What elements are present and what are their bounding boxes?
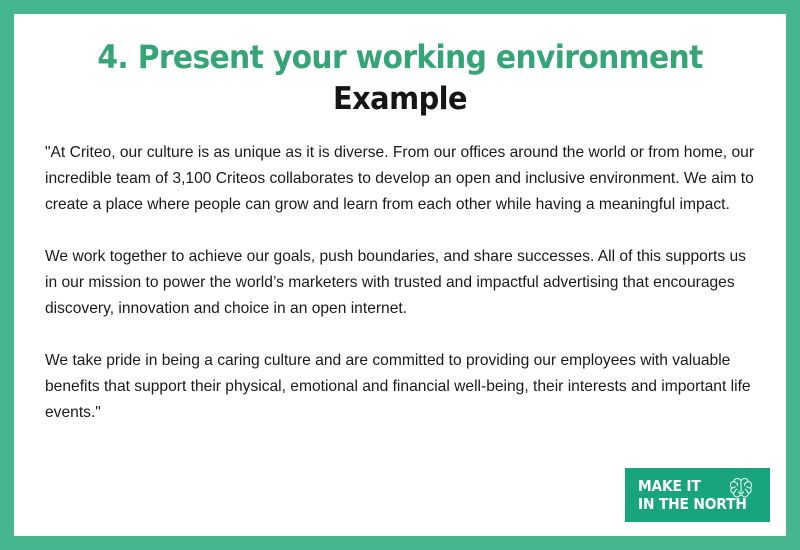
page-subtitle: Example	[41, 82, 759, 117]
paragraph-3: We take pride in being a caring culture …	[45, 348, 760, 426]
make-it-in-the-north-logo: MAKE IT IN THE NORTH	[625, 468, 770, 522]
brain-icon	[726, 476, 756, 500]
heading-block: 4. Present your working environment Exam…	[14, 14, 786, 117]
paragraph-1: "At Criteo, our culture is as unique as …	[45, 140, 760, 218]
slide-content: 4. Present your working environment Exam…	[14, 14, 786, 536]
paragraph-2: We work together to achieve our goals, p…	[45, 244, 760, 322]
slide-frame: 4. Present your working environment Exam…	[0, 0, 800, 550]
page-title: 4. Present your working environment	[41, 40, 759, 76]
body-text-block: "At Criteo, our culture is as unique as …	[45, 140, 760, 426]
